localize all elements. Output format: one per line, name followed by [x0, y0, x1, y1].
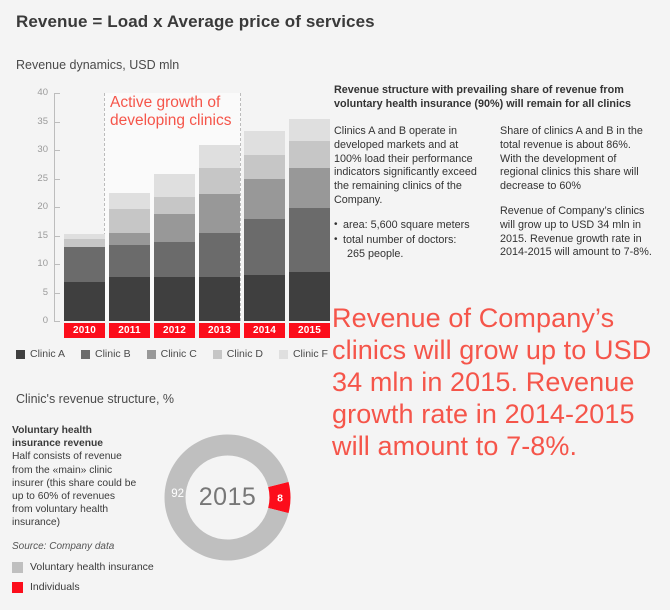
- y-axis-tick-label: 35: [14, 116, 48, 127]
- legend-item[interactable]: Clinic D: [213, 348, 263, 360]
- bar-segment: [109, 193, 150, 208]
- donut-legend-label: Individuals: [30, 581, 80, 593]
- y-axis-tick-label: 10: [14, 258, 48, 269]
- donut-legend-label: Voluntary health insurance: [30, 561, 154, 573]
- legend-label: Clinic D: [227, 348, 263, 360]
- bar-segment: [154, 277, 195, 321]
- legend-item[interactable]: Clinic C: [147, 348, 197, 360]
- donut-legend-swatch: [12, 582, 23, 593]
- y-axis-tick-label: 25: [14, 173, 48, 184]
- x-axis-year-label: 2012: [154, 323, 195, 338]
- y-axis-tick: [54, 150, 60, 151]
- bar-segment: [154, 197, 195, 214]
- bar-segment: [154, 242, 195, 277]
- bar-segment: [154, 214, 195, 242]
- legend-swatch: [81, 350, 90, 359]
- bar-segment: [109, 277, 150, 321]
- y-axis-tick: [54, 122, 60, 123]
- company-facts-list: area: 5,600 square meterstotal number of…: [334, 219, 486, 262]
- y-axis-tick-label: 30: [14, 144, 48, 155]
- big-quote: Revenue of Company’s clinics will grow u…: [332, 302, 664, 462]
- x-axis-year-label: 2013: [199, 323, 240, 338]
- growth-paragraph: Revenue of Company’s clinics will grow u…: [500, 205, 652, 260]
- y-axis-tick: [54, 207, 60, 208]
- right-subcolumn-left: Clinics A and B operate in developed mar…: [334, 125, 486, 271]
- bar-segment: [244, 179, 285, 219]
- bar-segment: [64, 247, 105, 282]
- donut-slice-label-major: 92: [158, 488, 184, 500]
- bar-segment: [289, 208, 330, 272]
- donut-description-body: Half consists of revenue from the «main»…: [12, 451, 136, 528]
- bar-segment: [244, 275, 285, 321]
- bar-chart-legend: Clinic AClinic BClinic CClinic DClinic F: [16, 348, 328, 360]
- donut-legend-item[interactable]: Voluntary health insurance: [12, 561, 154, 573]
- company-fact-item: area: 5,600 square meters: [334, 219, 486, 233]
- legend-label: Clinic F: [293, 348, 328, 360]
- donut-slice-label-minor: 8: [277, 493, 283, 505]
- legend-label: Clinic B: [95, 348, 131, 360]
- active-growth-annotation: Active growth of developing clinics: [110, 94, 248, 129]
- bar-segment: [289, 141, 330, 168]
- source-note: Source: Company data: [12, 541, 114, 552]
- donut-legend-item[interactable]: Individuals: [12, 581, 154, 593]
- bar-column: [289, 119, 330, 321]
- bar-column: [109, 193, 150, 321]
- bar-segment: [199, 145, 240, 168]
- infographic-page: Revenue = Load x Average price of servic…: [0, 0, 670, 610]
- donut-legend: Voluntary health insuranceIndividuals: [12, 561, 154, 601]
- bar-segment: [199, 194, 240, 232]
- legend-swatch: [147, 350, 156, 359]
- x-axis-year-label: 2014: [244, 323, 285, 338]
- right-headline: Revenue structure with prevailing share …: [334, 84, 652, 111]
- bar-column: [154, 174, 195, 321]
- bar-segment: [289, 168, 330, 208]
- legend-item[interactable]: Clinic F: [279, 348, 328, 360]
- bar-segment: [109, 233, 150, 245]
- y-axis-tick-label: 40: [14, 87, 48, 98]
- y-axis-tick: [54, 93, 60, 94]
- bar-segment: [109, 245, 150, 277]
- right-text-column: Revenue structure with prevailing share …: [334, 84, 664, 271]
- x-axis-year-label: 2015: [289, 323, 330, 338]
- share-paragraph: Share of clinics A and B in the total re…: [500, 125, 652, 194]
- bar-segment: [244, 219, 285, 275]
- donut-legend-swatch: [12, 562, 23, 573]
- bar-segment: [64, 239, 105, 247]
- x-axis-year-label: 2010: [64, 323, 105, 338]
- donut-description: Voluntary health insurance revenue Half …: [12, 424, 138, 530]
- y-axis-tick-label: 15: [14, 230, 48, 241]
- legend-swatch: [16, 350, 25, 359]
- bar-segment: [244, 131, 285, 155]
- bar-column: [199, 145, 240, 321]
- bar-segment: [109, 209, 150, 234]
- company-fact-item: 265 people.: [334, 248, 486, 262]
- legend-swatch: [279, 350, 288, 359]
- y-axis-tick: [54, 236, 60, 237]
- bar-segment: [289, 119, 330, 141]
- bar-segment: [154, 174, 195, 197]
- legend-swatch: [213, 350, 222, 359]
- y-axis-tick: [54, 293, 60, 294]
- bar-column: [64, 234, 105, 321]
- y-axis-tick: [54, 321, 60, 322]
- donut-section-title: Clinic's revenue structure, %: [16, 392, 174, 406]
- y-axis-tick: [54, 264, 60, 265]
- right-subcolumn-right: Share of clinics A and B in the total re…: [500, 125, 652, 271]
- page-title: Revenue = Load x Average price of servic…: [16, 12, 375, 32]
- legend-label: Clinic C: [161, 348, 197, 360]
- y-axis-tick: [54, 179, 60, 180]
- bar-segment: [244, 155, 285, 179]
- y-axis-tick-label: 20: [14, 201, 48, 212]
- bar-segment: [199, 233, 240, 277]
- bar-segment: [289, 272, 330, 321]
- y-axis-tick-label: 5: [14, 287, 48, 298]
- revenue-dynamics-bar-chart: 0510152025303540 Active growth of develo…: [14, 88, 326, 338]
- bar-segment: [199, 168, 240, 195]
- bar-segment: [199, 277, 240, 321]
- bar-column: [244, 131, 285, 321]
- bar-segment: [64, 282, 105, 321]
- company-fact-item: total number of doctors:: [334, 234, 486, 248]
- clinics-ab-paragraph: Clinics A and B operate in developed mar…: [334, 125, 486, 208]
- y-axis-tick-label: 0: [14, 315, 48, 326]
- legend-item[interactable]: Clinic B: [81, 348, 131, 360]
- donut-description-lead: Voluntary health insurance revenue: [12, 424, 138, 450]
- x-axis-year-label: 2011: [109, 323, 150, 338]
- legend-item[interactable]: Clinic A: [16, 348, 65, 360]
- legend-label: Clinic A: [30, 348, 65, 360]
- bar-chart-subtitle: Revenue dynamics, USD mln: [16, 58, 179, 72]
